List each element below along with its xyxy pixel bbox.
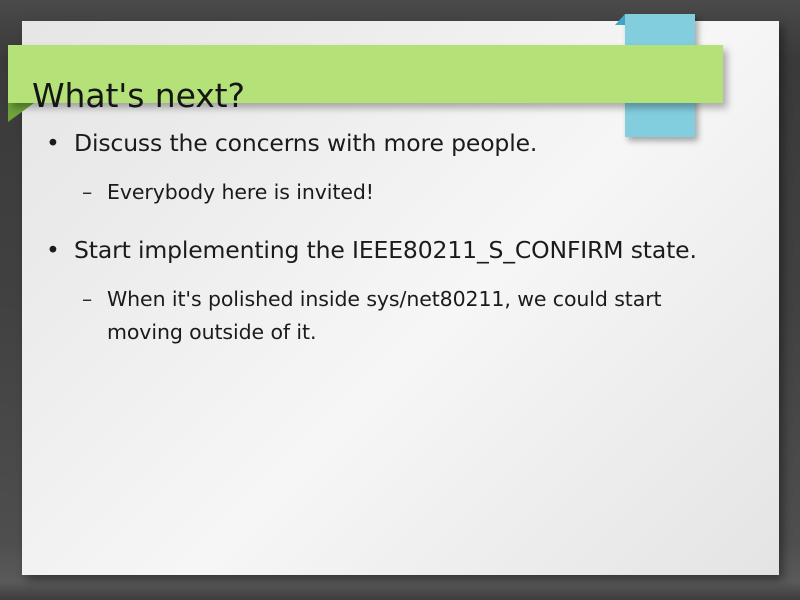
page-title: What's next? (32, 72, 692, 120)
list-item: – When it's polished inside sys/net80211… (22, 283, 762, 349)
spacer (22, 215, 762, 233)
bullet-dot-icon: • (46, 126, 66, 160)
list-item: • Start implementing the IEEE80211_S_CON… (22, 233, 762, 267)
green-banner-fold-triangle (8, 103, 34, 122)
spacer (22, 166, 762, 176)
bullet-dash-icon: – (82, 176, 100, 209)
bullet-dot-icon: • (46, 233, 66, 267)
list-item-label: Start implementing the IEEE80211_S_CONFI… (74, 233, 697, 267)
slide-frame: What's next? • Discuss the concerns with… (0, 0, 800, 600)
blue-ribbon-fold-triangle (615, 14, 625, 25)
slide-body: • Discuss the concerns with more people.… (22, 126, 762, 355)
bullet-dash-icon: – (82, 283, 100, 316)
list-item-label: When it's polished inside sys/net80211, … (107, 283, 737, 349)
spacer (22, 273, 762, 283)
list-item: – Everybody here is invited! (22, 176, 762, 209)
list-item-label: Discuss the concerns with more people. (74, 126, 537, 160)
list-item-label: Everybody here is invited! (107, 176, 374, 209)
